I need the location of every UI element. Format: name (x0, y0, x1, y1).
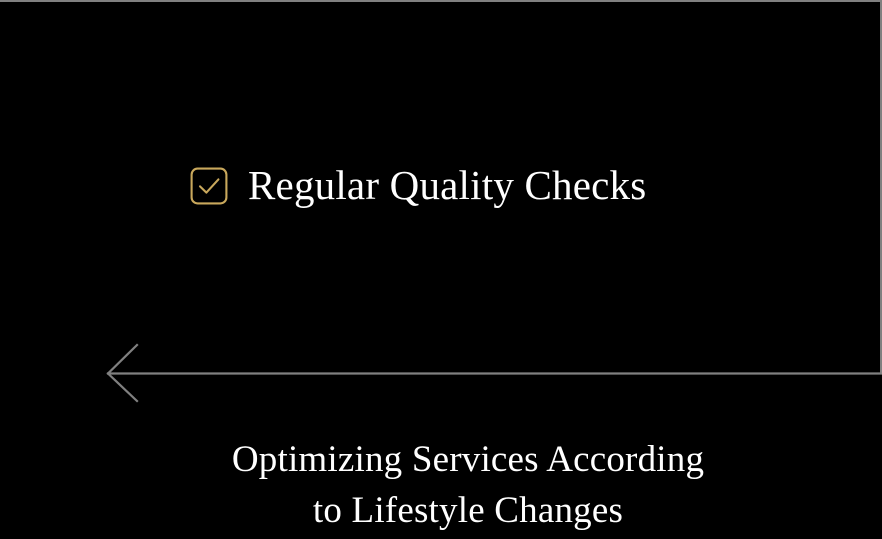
headline-group: Regular Quality Checks (190, 164, 646, 207)
caption-block: Optimizing Services According to Lifesty… (0, 434, 882, 536)
checkbox-checked-icon (190, 167, 228, 205)
arrow-left-icon (104, 340, 882, 408)
slide-canvas: Regular Quality Checks Optimizing Servic… (0, 0, 882, 539)
headline-title: Regular Quality Checks (248, 164, 646, 207)
slide-border-top (0, 0, 882, 2)
caption-line-2: to Lifestyle Changes (0, 485, 882, 536)
caption-line-1: Optimizing Services According (0, 434, 882, 485)
